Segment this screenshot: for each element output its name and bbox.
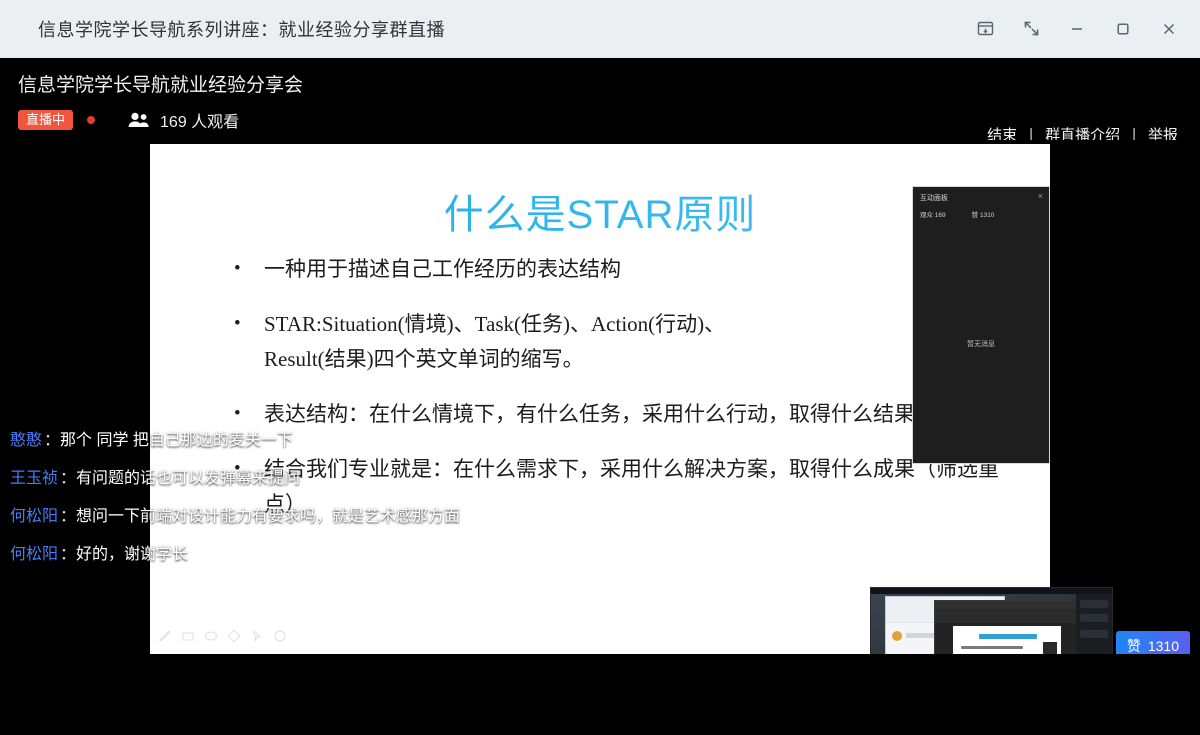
slide-bullet: • 一种用于描述自己工作经历的表达结构 xyxy=(234,252,1010,287)
slide-bullet-text: 表达结构：在什么情境下，有什么任务，采用什么行动，取得什么结果 xyxy=(264,397,915,432)
chat-colon: ： xyxy=(60,508,76,525)
embedded-panel-stats: 观众 169 赞 1310 xyxy=(920,209,994,219)
embedded-interaction-panel: 互动面板 × 观众 169 赞 1310 暂无消息 xyxy=(912,186,1050,464)
recording-dot-icon xyxy=(87,116,95,124)
pip-panel-row xyxy=(1080,630,1108,638)
chat-user: 何松阳 xyxy=(10,508,58,525)
slide-bullet-text: 一种用于描述自己工作经历的表达结构 xyxy=(264,252,621,287)
chat-colon: ： xyxy=(60,546,76,563)
bullet-marker-icon: • xyxy=(234,307,264,377)
chat-user: 何松阳 xyxy=(10,546,58,563)
bottom-toolbar: 超清 发送 xyxy=(0,654,1200,735)
bullet-marker-icon: • xyxy=(234,397,264,432)
people-icon xyxy=(127,111,151,129)
pip-slide-line xyxy=(961,646,1023,649)
chat-colon: ： xyxy=(44,432,60,449)
chat-colon: ： xyxy=(60,470,76,487)
pip-panel-row xyxy=(1080,600,1108,608)
close-icon: × xyxy=(1038,191,1043,201)
chat-message: 王玉祯：有问题的话也可以发弹幕来提问 xyxy=(10,468,490,490)
chat-message: 何松阳：好的，谢谢学长 xyxy=(10,544,490,566)
pip-slide-title xyxy=(979,634,1037,639)
window-pin-icon[interactable] xyxy=(962,0,1008,58)
embedded-viewer-count: 观众 169 xyxy=(920,209,946,219)
more-icon[interactable] xyxy=(273,629,287,648)
slide-bullet: • STAR:Situation(情境)、Task(任务)、Action(行动)… xyxy=(234,307,1010,377)
pen-icon[interactable] xyxy=(158,629,172,648)
minimize-icon[interactable] xyxy=(1054,0,1100,58)
title-bar: 信息学院学长导航系列讲座：就业经验分享群直播 xyxy=(0,0,1200,58)
avatar xyxy=(892,631,902,641)
shape-icon[interactable] xyxy=(227,629,241,648)
pip-toolbar-secondary xyxy=(935,609,1078,623)
bullet-marker-icon: • xyxy=(234,252,264,287)
cursor-icon[interactable] xyxy=(250,629,264,648)
maximize-icon[interactable] xyxy=(1100,0,1146,58)
chat-text: 有问题的话也可以发弹幕来提问 xyxy=(76,470,300,487)
pip-panel-row xyxy=(1080,614,1108,622)
window-title: 信息学院学长导航系列讲座：就业经验分享群直播 xyxy=(38,16,445,42)
chat-message: 憨憨：那个 同学 把自己那边的麦关一下 xyxy=(10,430,490,452)
rectangle-icon[interactable] xyxy=(181,629,195,648)
like-count: 1310 xyxy=(1148,638,1179,654)
live-stream-window: 信息学院学长导航系列讲座：就业经验分享群直播 信息学院学长导航就业经验分享会 直… xyxy=(0,0,1200,735)
room-title: 信息学院学长导航就业经验分享会 xyxy=(18,70,303,97)
expand-icon[interactable] xyxy=(1008,0,1054,58)
eraser-icon[interactable] xyxy=(204,629,218,648)
status-badge: 直播中 xyxy=(18,110,73,130)
chat-message: 何松阳：想问一下前端对设计能力有要求吗，就是艺术感那方面 xyxy=(10,506,490,528)
chat-text: 那个 同学 把自己那边的麦关一下 xyxy=(60,432,293,449)
close-icon[interactable] xyxy=(1146,0,1192,58)
viewer-count: 169 人观看 xyxy=(160,108,239,132)
chat-user: 憨憨 xyxy=(10,432,42,449)
slide-bullet: • 表达结构：在什么情境下，有什么任务，采用什么行动，取得什么结果 xyxy=(234,397,1010,432)
annotation-toolbar[interactable] xyxy=(158,629,287,648)
chat-text: 想问一下前端对设计能力有要求吗，就是艺术感那方面 xyxy=(76,508,460,525)
embedded-empty-text: 暂无消息 xyxy=(913,339,1049,349)
live-header: 信息学院学长导航就业经验分享会 直播中 169 人观看 结束 | 群直播介绍 |… xyxy=(0,58,1200,140)
chat-overlay: 憨憨：那个 同学 把自己那边的麦关一下 王玉祯：有问题的话也可以发弹幕来提问 何… xyxy=(10,430,490,582)
live-meta: 直播中 169 人观看 xyxy=(18,108,239,132)
chat-text: 好的，谢谢学长 xyxy=(76,546,188,563)
embedded-like-count: 赞 1310 xyxy=(972,209,995,219)
chat-user: 王玉祯 xyxy=(10,470,58,487)
window-controls xyxy=(962,0,1200,57)
embedded-panel-title: 互动面板 xyxy=(920,193,948,203)
pip-toolbar xyxy=(935,601,1078,609)
like-label: 赞 xyxy=(1127,636,1141,656)
slide-bullet-text: STAR:Situation(情境)、Task(任务)、Action(行动)、 … xyxy=(264,307,725,377)
